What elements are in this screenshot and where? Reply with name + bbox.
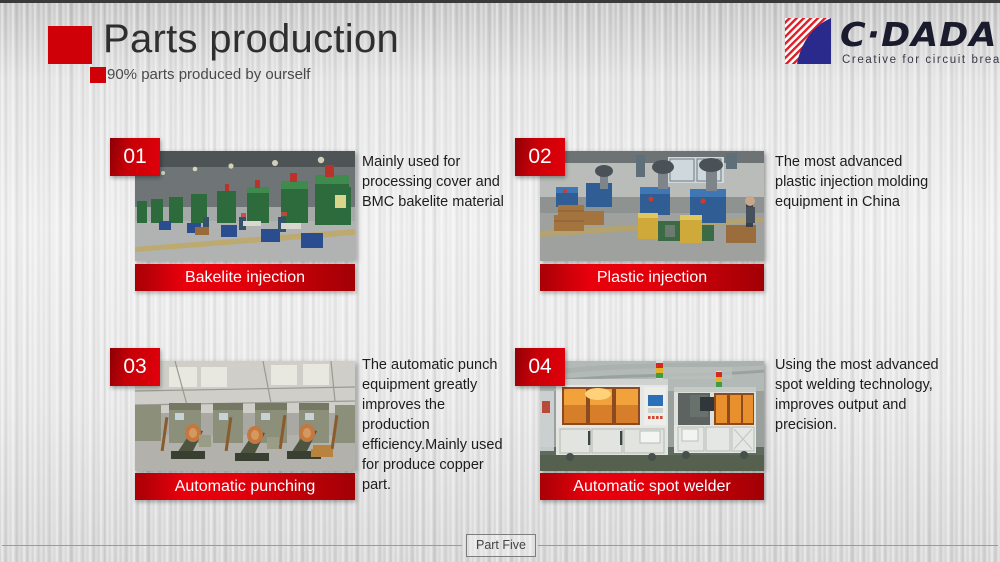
company-logo: C·DADA Creative for circuit breaker — [783, 16, 983, 72]
footer-divider-right — [538, 545, 998, 546]
card-label: Bakelite injection — [135, 264, 355, 291]
plastic-injection-photo — [540, 151, 764, 261]
bakelite-injection-photo — [135, 151, 355, 261]
page-title: Parts production — [103, 17, 399, 62]
card-number-badge: 04 — [515, 348, 565, 386]
card-description: The automatic punch equipment greatly im… — [362, 355, 514, 495]
card-label: Automatic punching — [135, 473, 355, 500]
footer-divider-left — [2, 545, 462, 546]
dada-logo-icon — [783, 16, 833, 66]
slide-canvas: Parts production 90% parts produced by o… — [0, 0, 1000, 562]
card-number-badge: 02 — [515, 138, 565, 176]
logo-tagline: Creative for circuit breaker — [842, 54, 1000, 66]
card-description: The most advanced plastic injection mold… — [775, 152, 935, 212]
card-label: Automatic spot welder — [540, 473, 764, 500]
card-number-badge: 03 — [110, 348, 160, 386]
title-accent-square — [48, 26, 92, 64]
card-description: Using the most advanced spot welding tec… — [775, 355, 943, 435]
page-subtitle: 90% parts produced by ourself — [107, 66, 310, 83]
card-label: Plastic injection — [540, 264, 764, 291]
card-number-badge: 01 — [110, 138, 160, 176]
section-label: Part Five — [466, 534, 536, 557]
automatic-spot-welder-photo — [540, 361, 764, 471]
card-description: Mainly used for processing cover and BMC… — [362, 152, 510, 212]
automatic-punching-photo — [135, 361, 355, 471]
logo-wordmark: C·DADA — [840, 15, 998, 54]
subtitle-bullet-square — [90, 67, 106, 83]
